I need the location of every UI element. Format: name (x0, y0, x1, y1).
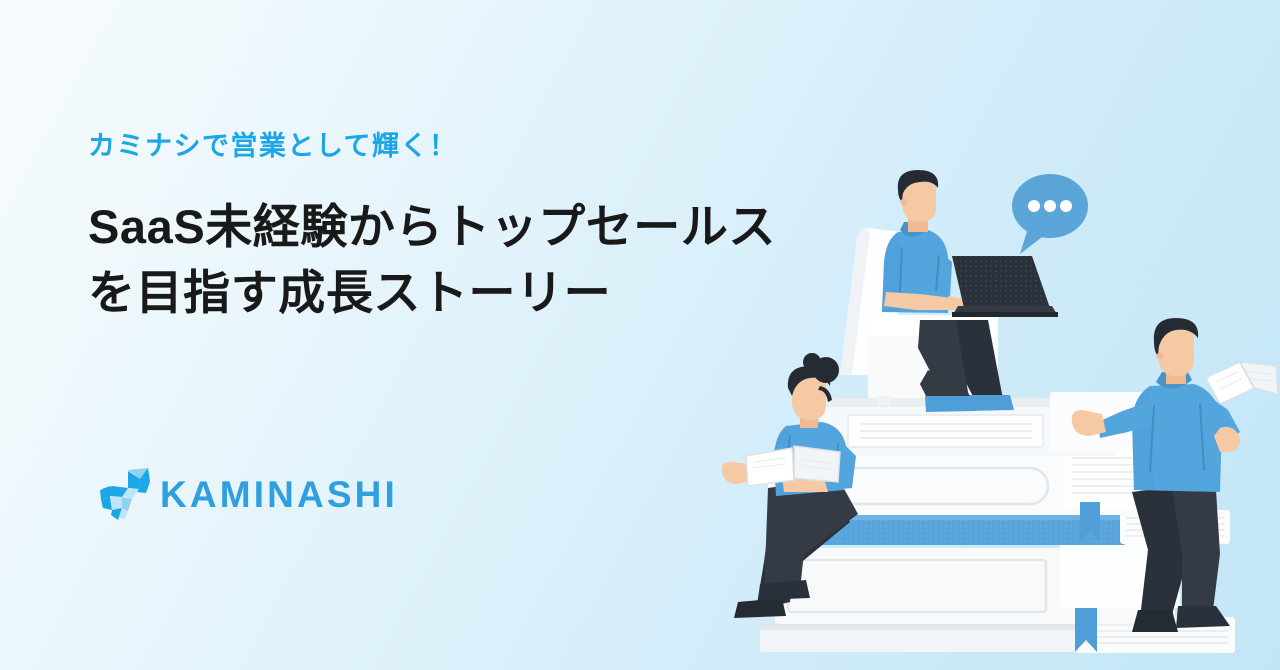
logo-wordmark: KAMINASHI (160, 476, 398, 513)
goat-origami-mark-icon (92, 466, 154, 522)
banner-root: カミナシで営業として輝く！ SaaS未経験からトップセールス を目指す成長ストー… (0, 0, 1280, 670)
eyebrow-tagline: カミナシで営業として輝く！ (88, 130, 888, 164)
kaminashi-logo[interactable]: KAMINASHI (92, 466, 398, 522)
open-book-man (1206, 362, 1278, 404)
speech-bubble-icon (1012, 174, 1088, 254)
hero-illustration (720, 170, 1280, 670)
